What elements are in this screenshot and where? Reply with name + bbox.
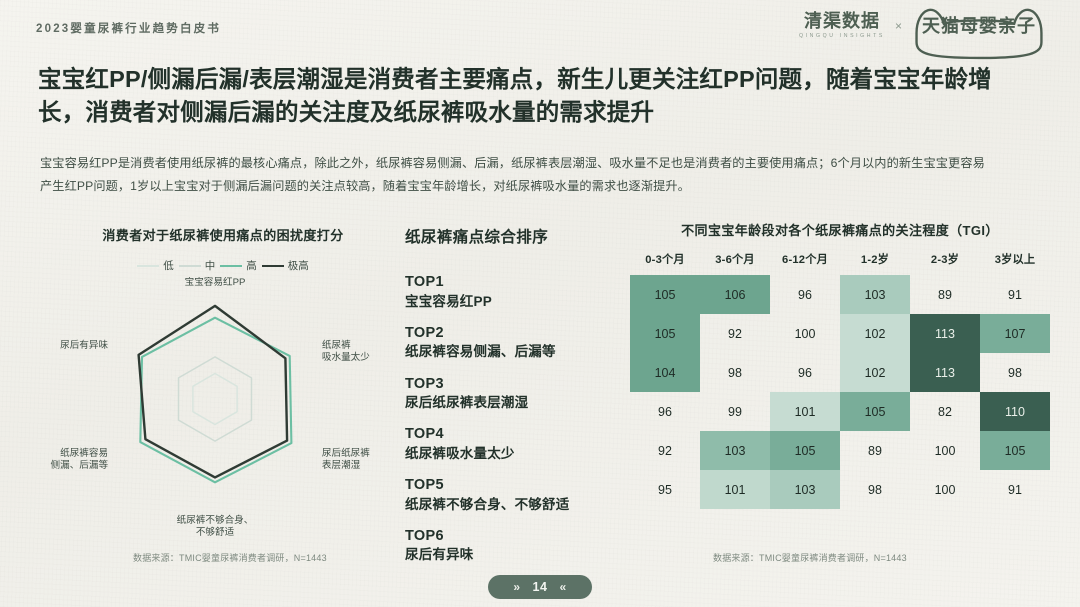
radar-series-1 (193, 374, 237, 425)
radar-axis-label: 纸尿裤吸水量太少 (322, 339, 370, 363)
radar-chart: 宝宝容易红PP纸尿裤吸水量太少尿后纸尿裤表层潮湿纸尿裤不够合身、不够舒适纸尿裤容… (48, 277, 398, 557)
slide-header: 2023婴童尿裤行业趋势白皮书 清渠数据 QINGQU INSIGHTS × 天… (0, 0, 1080, 58)
chevron-right-icon: » (513, 580, 520, 594)
heatmap-cell: 103 (700, 431, 770, 470)
heatmap-cell: 107 (980, 314, 1050, 353)
slide-page: 2023婴童尿裤行业趋势白皮书 清渠数据 QINGQU INSIGHTS × 天… (0, 0, 1080, 607)
description-text: 宝宝容易红PP是消费者使用纸尿裤的最核心痛点，除此之外，纸尿裤容易侧漏、后漏，纸… (40, 152, 995, 197)
heatmap-panel-title: 不同宝宝年龄段对各个纸尿裤痛点的关注程度（TGI） (630, 220, 1050, 239)
heatmap-grid: 0-3个月3-6个月6-12个月1-2岁2-3岁3岁以上105106961038… (630, 251, 1050, 509)
heatmap-cell: 91 (980, 275, 1050, 314)
heatmap-cell: 105 (630, 275, 700, 314)
rank-tag: TOP2 (405, 324, 635, 344)
list-item: TOP5纸尿裤不够合身、不够舒适 (405, 476, 635, 514)
heatmap-cell: 113 (910, 314, 980, 353)
heatmap-cell: 113 (910, 353, 980, 392)
heatmap-cell: 92 (630, 431, 700, 470)
heatmap-cell: 105 (980, 431, 1050, 470)
legend-swatch-high (220, 265, 242, 267)
heatmap-column-header: 3-6个月 (700, 251, 770, 275)
page-title: 宝宝红PP/侧漏后漏/表层潮湿是消费者主要痛点，新生儿更关注红PP问题，随着宝宝… (38, 63, 998, 130)
rank-tag: TOP3 (405, 375, 635, 395)
legend-item-veryhigh: 极高 (262, 258, 309, 273)
rank-text: 宝宝容易红PP (405, 293, 635, 311)
heatmap-cell: 98 (980, 353, 1050, 392)
radar-panel: 消费者对于纸尿裤使用痛点的困扰度打分 低 中 高 极高 宝宝容易红PP纸尿裤吸水… (48, 225, 398, 555)
heatmap-cell: 91 (980, 470, 1050, 509)
brand-separator-icon: × (894, 19, 903, 33)
list-item: TOP6尿后有异味 (405, 527, 635, 565)
heatmap-cell: 102 (840, 314, 910, 353)
heatmap-column-header: 3岁以上 (980, 251, 1050, 275)
legend-swatch-mid (179, 265, 201, 267)
radar-panel-title: 消费者对于纸尿裤使用痛点的困扰度打分 (48, 225, 398, 244)
heatmap-cell: 103 (840, 275, 910, 314)
brand-tmall: 天猫母婴亲子 (912, 8, 1046, 43)
radar-source-note: 数据来源：TMIC婴童尿裤消费者调研，N=1443 (133, 551, 327, 564)
ranking-list: TOP1宝宝容易红PPTOP2纸尿裤容易侧漏、后漏等TOP3尿后纸尿裤表层潮湿T… (405, 273, 635, 565)
ranking-panel-title: 纸尿裤痛点综合排序 (405, 225, 635, 247)
heatmap-cell: 100 (910, 470, 980, 509)
page-indicator: » 14 « (488, 575, 592, 599)
heatmap-cell: 106 (700, 275, 770, 314)
heatmap-cell: 101 (770, 392, 840, 431)
rank-text: 尿后纸尿裤表层潮湿 (405, 394, 635, 412)
rank-tag: TOP5 (405, 476, 635, 496)
rank-text: 纸尿裤不够合身、不够舒适 (405, 496, 635, 514)
rank-text: 纸尿裤容易侧漏、后漏等 (405, 343, 635, 361)
legend-label-low: 低 (163, 258, 174, 273)
legend-label-veryhigh: 极高 (288, 258, 309, 273)
heatmap-cell: 89 (840, 431, 910, 470)
heatmap-cell: 89 (910, 275, 980, 314)
heatmap-column-header: 6-12个月 (770, 251, 840, 275)
heatmap-cell: 92 (700, 314, 770, 353)
heatmap-column-header: 0-3个月 (630, 251, 700, 275)
heatmap-cell: 105 (630, 314, 700, 353)
heatmap-cell: 100 (910, 431, 980, 470)
legend-item-low: 低 (137, 258, 174, 273)
radar-axis-label: 纸尿裤不够合身、不够舒适 (177, 514, 254, 538)
brand-lockup: 清渠数据 QINGQU INSIGHTS × 天猫母婴亲子 (799, 8, 1046, 43)
ranking-panel: 纸尿裤痛点综合排序 TOP1宝宝容易红PPTOP2纸尿裤容易侧漏、后漏等TOP3… (405, 225, 635, 555)
heatmap-cell: 96 (630, 392, 700, 431)
description-block: 宝宝容易红PP是消费者使用纸尿裤的最核心痛点，除此之外，纸尿裤容易侧漏、后漏，纸… (40, 152, 995, 197)
list-item: TOP3尿后纸尿裤表层潮湿 (405, 375, 635, 413)
legend-label-mid: 中 (205, 258, 216, 273)
heatmap-cell: 98 (700, 353, 770, 392)
heatmap-cell: 98 (840, 470, 910, 509)
heatmap-cell: 82 (910, 392, 980, 431)
rank-text: 纸尿裤吸水量太少 (405, 445, 635, 463)
heatmap-cell: 104 (630, 353, 700, 392)
radar-axis-label: 尿后有异味 (60, 339, 108, 351)
radar-axis-label: 宝宝容易红PP (185, 277, 246, 288)
rank-tag: TOP6 (405, 527, 635, 547)
radar-axis-label: 尿后纸尿裤表层潮湿 (322, 447, 370, 471)
heatmap-cell: 103 (770, 470, 840, 509)
heatmap-column-header: 2-3岁 (910, 251, 980, 275)
legend-swatch-low (137, 265, 159, 267)
radar-chart-svg: 宝宝容易红PP纸尿裤吸水量太少尿后纸尿裤表层潮湿纸尿裤不够合身、不够舒适纸尿裤容… (48, 277, 398, 552)
heatmap-cell: 105 (770, 431, 840, 470)
heatmap-cell: 96 (770, 275, 840, 314)
rank-text: 尿后有异味 (405, 546, 635, 564)
list-item: TOP1宝宝容易红PP (405, 273, 635, 311)
brand-qingqu-cn: 清渠数据 (799, 12, 885, 31)
heatmap-cell: 95 (630, 470, 700, 509)
list-item: TOP4纸尿裤吸水量太少 (405, 425, 635, 463)
brand-qingqu-en: QINGQU INSIGHTS (799, 33, 885, 39)
heatmap-cell: 110 (980, 392, 1050, 431)
legend-label-high: 高 (246, 258, 257, 273)
document-title: 2023婴童尿裤行业趋势白皮书 (36, 20, 221, 36)
heatmap-column-header: 1-2岁 (840, 251, 910, 275)
page-number: 14 (533, 580, 548, 594)
radar-series-2 (179, 357, 252, 441)
heatmap-cell: 105 (840, 392, 910, 431)
chevron-left-icon: « (559, 580, 566, 594)
heatmap-cell: 101 (700, 470, 770, 509)
rank-tag: TOP1 (405, 273, 635, 293)
heatmap-cell: 100 (770, 314, 840, 353)
heatmap-cell: 102 (840, 353, 910, 392)
radar-legend: 低 中 高 极高 (48, 258, 398, 273)
legend-item-mid: 中 (179, 258, 216, 273)
brand-qingqu: 清渠数据 QINGQU INSIGHTS (799, 12, 885, 39)
legend-swatch-veryhigh (262, 265, 284, 267)
title-block: 宝宝红PP/侧漏后漏/表层潮湿是消费者主要痛点，新生儿更关注红PP问题，随着宝宝… (38, 63, 998, 130)
heatmap-cell: 96 (770, 353, 840, 392)
list-item: TOP2纸尿裤容易侧漏、后漏等 (405, 324, 635, 362)
rank-tag: TOP4 (405, 425, 635, 445)
radar-series-4 (139, 306, 288, 478)
legend-item-high: 高 (220, 258, 257, 273)
heatmap-source-note: 数据来源：TMIC婴童尿裤消费者调研，N=1443 (713, 551, 907, 564)
heatmap-panel: 不同宝宝年龄段对各个纸尿裤痛点的关注程度（TGI） 0-3个月3-6个月6-12… (630, 220, 1050, 555)
brand-tmall-cn: 天猫母婴亲子 (922, 12, 1036, 38)
heatmap-cell: 99 (700, 392, 770, 431)
radar-series-3 (140, 318, 291, 483)
radar-axis-label: 纸尿裤容易侧漏、后漏等 (51, 447, 109, 471)
